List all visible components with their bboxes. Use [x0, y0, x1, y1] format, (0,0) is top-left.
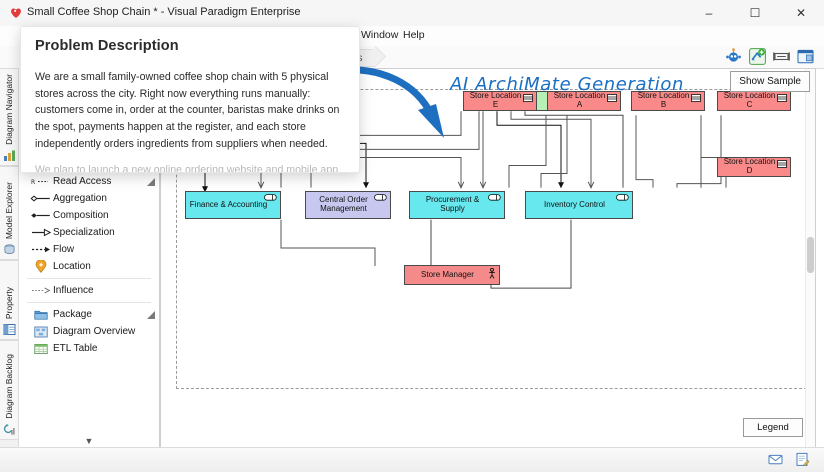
minimize-button[interactable]: –	[686, 0, 732, 26]
ai-assistant-icon[interactable]	[725, 48, 742, 65]
maximize-button[interactable]: ☐	[732, 0, 778, 26]
palette-item-label: Package	[53, 309, 92, 320]
palette-item-label: Flow	[53, 244, 74, 255]
model-explorer-icon	[3, 243, 16, 256]
palette-item-label: Aggregation	[53, 193, 107, 204]
diagram-node-finance-accounting[interactable]: Finance & Accounting	[185, 191, 281, 219]
diagram-overview-icon	[29, 326, 53, 338]
palette-item-specialization[interactable]: Specialization	[19, 224, 159, 241]
status-bar-icons	[768, 452, 810, 467]
component-icon	[264, 194, 277, 204]
node-icon	[523, 94, 533, 105]
dialog-title: Problem Description	[35, 38, 179, 54]
toolbar-icons	[725, 48, 814, 65]
palette-item-label: Influence	[53, 285, 94, 296]
palette-item-label: Diagram Overview	[53, 326, 135, 337]
component-icon	[616, 194, 629, 204]
rail-tab-model-explorer[interactable]: Model Explorer	[0, 166, 19, 260]
palette-scroll-more[interactable]: ▼	[19, 436, 159, 446]
palette-item-aggregation[interactable]: Aggregation	[19, 190, 159, 207]
menu-help[interactable]: Help	[403, 29, 425, 41]
diagram-node-central-order-management[interactable]: Central Order Management	[305, 191, 391, 219]
legend-button[interactable]: Legend	[743, 418, 803, 437]
node-icon	[691, 94, 701, 105]
ai-generate-diagram-icon[interactable]	[749, 48, 766, 65]
palette-item-influence[interactable]: Influence	[19, 282, 159, 299]
location-icon	[29, 261, 53, 273]
node-icon	[607, 94, 617, 105]
dialog-paragraph-2: We plan to launch a new online ordering …	[35, 162, 347, 173]
specialization-relation-icon	[29, 226, 53, 238]
palette-item-label: Composition	[53, 210, 109, 221]
svg-text:R: R	[31, 179, 35, 186]
component-icon	[488, 194, 501, 204]
edit-note-icon[interactable]	[795, 452, 810, 467]
property-icon	[3, 323, 16, 336]
dialog-body: We are a small family-owned coffee shop …	[35, 69, 347, 173]
composition-relation-icon	[29, 209, 53, 221]
palette-expand-arrow[interactable]	[147, 311, 155, 319]
rail-tab-diagram-backlog[interactable]: Diagram Backlog	[0, 340, 19, 440]
etl-table-icon	[29, 343, 53, 355]
diagram-node-procurement-supply[interactable]: Procurement & Supply	[409, 191, 505, 219]
palette-item-location[interactable]: Location	[19, 258, 159, 275]
flow-relation-icon	[29, 243, 53, 255]
diagram-node-store-location-c[interactable]: Store Location C	[717, 91, 791, 111]
node-label: Finance & Accounting	[190, 201, 267, 210]
node-label: Inventory Control	[544, 201, 605, 210]
show-sample-button[interactable]: Show Sample	[730, 71, 810, 92]
palette-divider	[27, 302, 151, 303]
node-label: Store Manager	[421, 271, 474, 280]
palette-divider	[27, 278, 151, 279]
palette-item-flow[interactable]: Flow	[19, 241, 159, 258]
rail-tab-label: Diagram Navigator	[4, 74, 14, 145]
fit-width-icon[interactable]	[773, 48, 790, 65]
package-icon	[29, 309, 53, 321]
diagram-node-store-location-d[interactable]: Store Location D	[717, 157, 791, 177]
node-icon	[777, 94, 787, 105]
dialog-paragraph-1: We are a small family-owned coffee shop …	[35, 69, 347, 153]
diagram-backlog-icon	[3, 423, 16, 436]
node-label: Procurement & Supply	[413, 196, 492, 214]
node-label: Central Order Management	[309, 196, 378, 214]
read-access-relation-icon: R	[29, 175, 53, 187]
problem-description-dialog: Problem Description We are a small famil…	[20, 26, 360, 173]
palette-item-diagram-overview[interactable]: Diagram Overview	[19, 323, 159, 340]
palette-item-label: Read Access	[53, 176, 111, 187]
diagram-node-inventory-control[interactable]: Inventory Control	[525, 191, 633, 219]
actor-icon	[488, 268, 496, 282]
visual-paradigm-logo-icon	[10, 7, 22, 19]
palette-item-label: ETL Table	[53, 343, 97, 354]
rail-tab-label: Diagram Backlog	[4, 354, 14, 419]
node-icon	[777, 160, 787, 171]
diagram-navigator-icon	[3, 149, 16, 162]
rail-tab-label: Property	[4, 287, 14, 319]
node-label: Store Location C	[721, 92, 778, 110]
status-bar	[0, 447, 824, 472]
palette-expand-arrow[interactable]	[147, 178, 155, 186]
component-icon	[374, 194, 387, 204]
window-title: Small Coffee Shop Chain * - Visual Parad…	[27, 6, 301, 18]
palette-item-label: Location	[53, 261, 91, 272]
close-button[interactable]: ✕	[778, 0, 824, 26]
palette-item-package[interactable]: Package	[19, 306, 159, 323]
left-tab-rail: Diagram Navigator Model Explorer Propert…	[0, 68, 19, 448]
application-window: Small Coffee Shop Chain * - Visual Parad…	[0, 0, 824, 472]
palette-item-read-access[interactable]: R Read Access	[19, 173, 159, 190]
rail-tab-property[interactable]: Property	[0, 260, 19, 340]
palette-item-composition[interactable]: Composition	[19, 207, 159, 224]
node-label: Store Location D	[721, 158, 778, 176]
palette-item-label: Specialization	[53, 227, 115, 238]
rail-tab-label: Model Explorer	[4, 182, 14, 239]
title-bar: Small Coffee Shop Chain * - Visual Parad…	[0, 0, 824, 27]
open-panel-icon[interactable]	[797, 48, 814, 65]
menu-window[interactable]: Window	[361, 29, 398, 41]
diagram-node-store-manager[interactable]: Store Manager	[404, 265, 500, 285]
message-icon[interactable]	[768, 452, 783, 467]
scrollbar-thumb[interactable]	[807, 237, 814, 273]
palette-item-etl-table[interactable]: ETL Table	[19, 340, 159, 357]
canvas-vertical-scrollbar[interactable]	[805, 69, 815, 447]
influence-relation-icon	[29, 285, 53, 297]
aggregation-relation-icon	[29, 192, 53, 204]
rail-tab-diagram-navigator[interactable]: Diagram Navigator	[0, 68, 19, 166]
ai-annotation-text: AI ArchiMate Generation	[450, 74, 684, 95]
